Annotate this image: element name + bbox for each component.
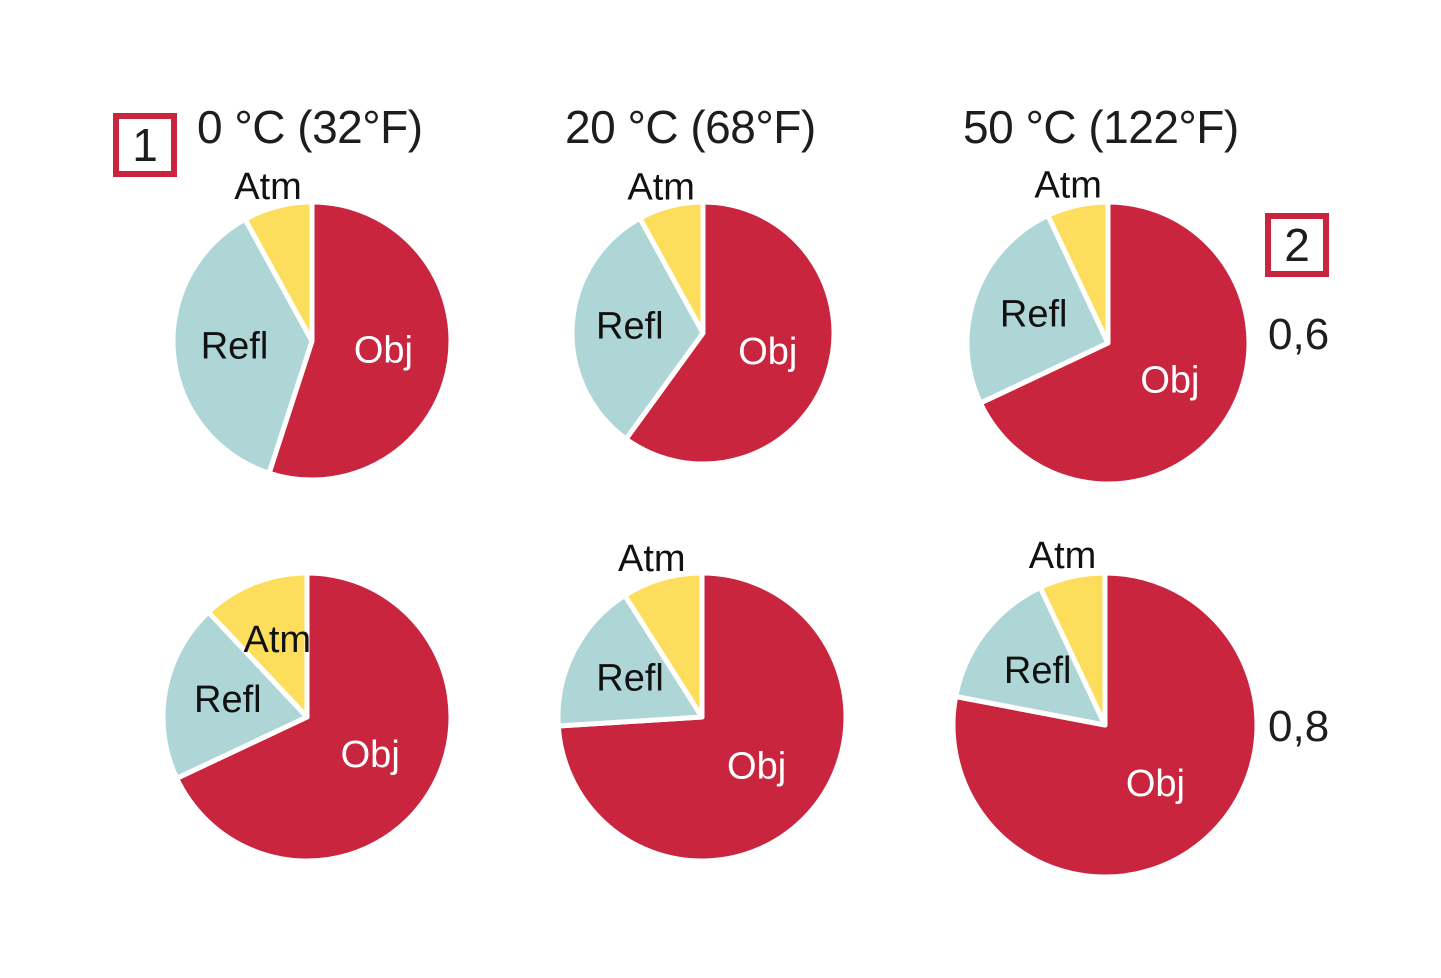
pie-chart-svg-3: ObjReflAtm [101,511,513,923]
pie-chart-1: ObjReflAtm [510,140,896,526]
pie-chart-svg-0: ObjReflAtm [111,140,513,542]
pie-slice-label-obj: Obj [738,331,797,373]
pie-chart-2: ObjReflAtm [905,140,1311,546]
pie-slice-label-obj: Obj [1126,763,1185,805]
pie-slice-label-obj: Obj [727,745,786,787]
pie-chart-svg-2: ObjReflAtm [905,140,1311,546]
pie-slice-label-refl: Refl [194,679,262,721]
pie-chart-4: ObjReflAtm [496,511,908,923]
pie-chart-3: ObjReflAtm [101,511,513,923]
pie-slice-label-obj: Obj [341,734,400,776]
pie-slice-label-atm: Atm [627,166,695,208]
pie-chart-5: ObjReflAtm [891,511,1319,939]
pie-slice-label-refl: Refl [596,305,664,347]
pie-slice-label-obj: Obj [354,329,413,371]
figure-canvas: 1 2 0 °C (32°F) 20 °C (68°F) 50 °C (122°… [0,0,1441,978]
pie-chart-svg-4: ObjReflAtm [496,511,908,923]
pie-chart-0: ObjReflAtm [111,140,513,542]
pie-chart-svg-5: ObjReflAtm [891,511,1319,939]
pie-slice-label-obj: Obj [1140,359,1199,401]
pie-slice-label-atm: Atm [1029,535,1097,577]
pie-slice-label-atm: Atm [234,166,302,208]
pie-slice-label-refl: Refl [201,325,269,367]
pie-slice-label-refl: Refl [1000,293,1068,335]
pie-slice-label-atm: Atm [1034,165,1102,207]
pie-slice-label-refl: Refl [596,657,664,699]
pie-slice-label-refl: Refl [1004,650,1072,692]
pie-chart-svg-1: ObjReflAtm [510,140,896,526]
pie-slice-label-atm: Atm [618,538,686,580]
pie-slice-label-atm: Atm [244,619,312,661]
